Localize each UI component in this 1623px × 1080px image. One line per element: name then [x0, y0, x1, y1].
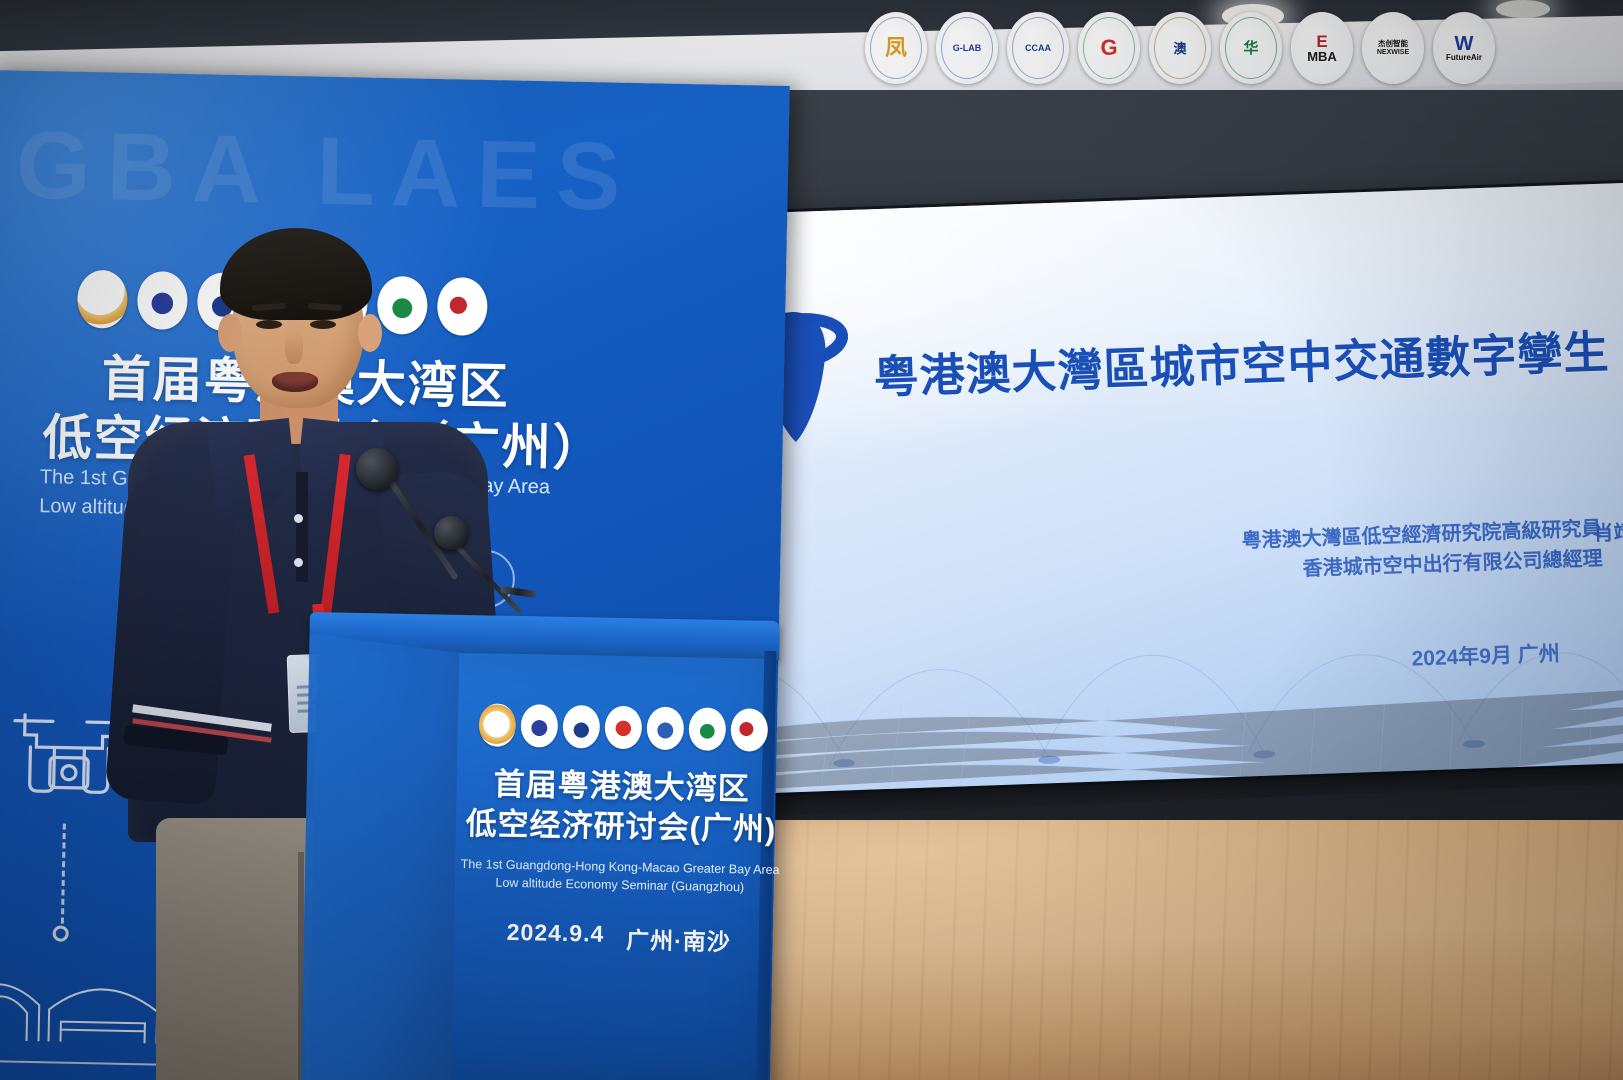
logo-gba-laes-institute: 凤	[865, 12, 927, 84]
logo-scau: 华	[1220, 12, 1282, 84]
podium-date-row: 2024.9.4 广州·南沙	[459, 918, 780, 958]
speaker-shirt-button	[294, 514, 303, 523]
speaker-eye-right	[310, 320, 336, 329]
podium-branding-panel: 首届粤港澳大湾区 低空经济研讨会(广州) The 1st Guangdong-H…	[456, 703, 783, 1079]
logo-ring	[870, 17, 922, 79]
screen-date-location: 2024年9月 广州	[1411, 637, 1560, 672]
speaker-hair	[220, 228, 372, 320]
podium-logo-3	[562, 705, 600, 749]
logo-futureair: W FutureAir	[1433, 12, 1495, 84]
microphone-head-2	[434, 516, 468, 550]
logo-g-lab: G-LAB	[936, 12, 998, 84]
speaker-eye-left	[256, 320, 282, 329]
speaker-left-arm	[105, 469, 238, 806]
podium: 首届粤港澳大湾区 低空经济研讨会(广州) The 1st Guangdong-H…	[301, 612, 780, 1080]
logo-caption: MBA	[1307, 50, 1337, 63]
logo-ring	[1225, 17, 1277, 79]
logo-nexwise: 杰创智能 NEXWISE	[1362, 12, 1424, 84]
podium-logo-6	[688, 707, 726, 751]
logo-caption: NEXWISE	[1377, 49, 1409, 56]
podium-logo-7	[730, 708, 768, 752]
microphone-head-1	[356, 448, 398, 490]
logo-mark: W	[1455, 34, 1474, 54]
logo-caption: FutureAir	[1446, 54, 1482, 62]
logo-ring	[1154, 17, 1206, 79]
logo-mark: 杰创智能	[1378, 40, 1408, 48]
logo-guangdong-broadcast: G	[1078, 12, 1140, 84]
logo-ring	[1012, 17, 1064, 79]
logo-ring	[941, 17, 993, 79]
logo-must-macau: 澳	[1149, 12, 1211, 84]
sponsor-logo-strip: 凤 G-LAB CCAA G 澳 华 E MBA 杰创智能 NEXW	[865, 8, 1623, 88]
logo-ring	[1083, 17, 1135, 79]
logo-caac: CCAA	[1007, 12, 1069, 84]
podium-logo-5	[646, 706, 684, 750]
speaker-mouth	[272, 372, 318, 392]
podium-side-panel	[301, 634, 459, 1080]
podium-title: 首届粤港澳大湾区 低空经济研讨会(广州)	[461, 764, 782, 851]
podium-logo-2	[520, 704, 558, 748]
podium-logo-4	[604, 706, 642, 750]
podium-english-title: The 1st Guangdong-Hong Kong-Macao Greate…	[460, 855, 781, 899]
logo-mark: E	[1316, 33, 1327, 50]
podium-title-line1: 首届粤港澳大湾区	[461, 764, 782, 810]
backdrop-watermark: GBA LAES	[15, 111, 638, 233]
podium-date: 2024.9.4	[506, 919, 604, 955]
speaker-shirt-button-2	[294, 558, 303, 567]
podium-title-line2: 低空经济研讨会(广州)	[461, 804, 782, 850]
photo-stage: 凤 G-LAB CCAA G 澳 华 E MBA 杰创智能 NEXW	[0, 0, 1623, 1080]
logo-fudan-emba: E MBA	[1291, 12, 1353, 84]
speaker-ear-right	[358, 314, 382, 352]
screen-speaker-name: 肖靖	[1593, 516, 1623, 546]
speaker-ear-left	[218, 314, 242, 352]
podium-location: 广州·南沙	[626, 921, 731, 957]
podium-logo-row	[462, 703, 783, 752]
speaker-nose	[285, 330, 303, 364]
podium-logo-1	[478, 703, 516, 747]
